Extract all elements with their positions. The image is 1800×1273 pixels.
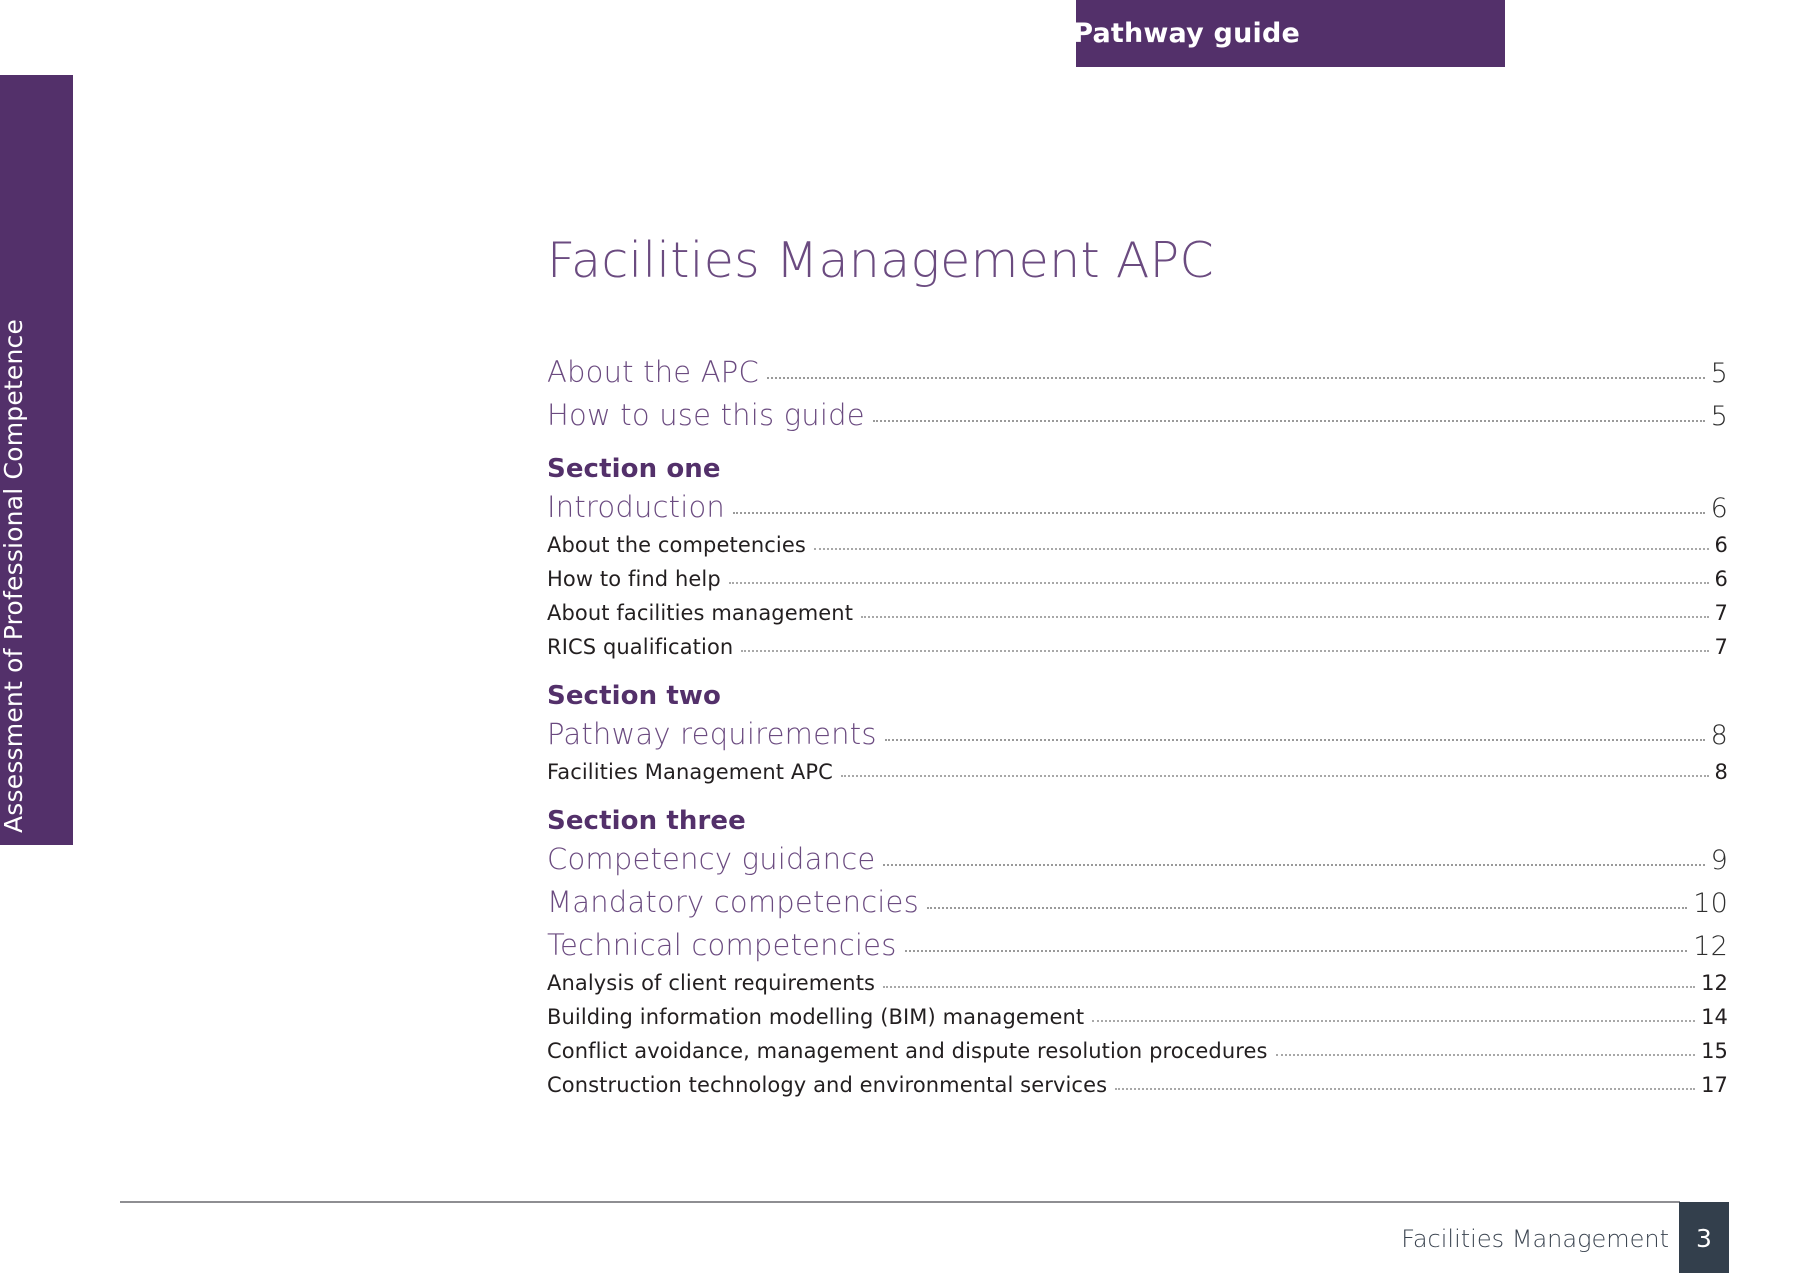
toc-entry[interactable]: How to use this guide5 <box>547 398 1728 432</box>
toc-entry[interactable]: Conflict avoidance, management and dispu… <box>547 1039 1728 1063</box>
toc-leader-dots <box>861 616 1708 618</box>
toc-entry[interactable]: Introduction6 <box>547 490 1728 524</box>
toc-leader-dots <box>927 907 1687 909</box>
toc-leader-dots <box>841 775 1709 777</box>
toc-entry[interactable]: Mandatory competencies10 <box>547 885 1728 919</box>
toc-entry-page: 6 <box>1715 533 1728 557</box>
toc-entry-page: 6 <box>1715 567 1728 591</box>
toc-leader-dots <box>1276 1054 1696 1056</box>
toc-entry-page: 10 <box>1693 888 1728 919</box>
toc-section-heading: Section one <box>547 454 1728 484</box>
toc-leader-dots <box>741 650 1708 652</box>
page-title: Facilities Management APC <box>547 232 1214 289</box>
toc-entry-page: 12 <box>1693 931 1728 962</box>
toc-entry-label: About the APC <box>547 355 759 389</box>
toc-entry-label: Analysis of client requirements <box>547 971 875 995</box>
toc-entry-page: 15 <box>1701 1039 1728 1063</box>
toc-entry[interactable]: About the competencies6 <box>547 533 1728 557</box>
page-number-box: 3 <box>1679 1202 1729 1273</box>
toc-entry-page: 14 <box>1701 1005 1728 1029</box>
toc-entry[interactable]: Analysis of client requirements12 <box>547 971 1728 995</box>
toc-leader-dots <box>767 377 1705 379</box>
document-page: Pathway guide Assessment of Professional… <box>0 0 1800 1273</box>
toc-entry-page: 8 <box>1711 720 1728 751</box>
toc-entry[interactable]: Competency guidance9 <box>547 842 1728 876</box>
toc-entry-label: Introduction <box>547 490 725 524</box>
toc-leader-dots <box>883 986 1695 988</box>
toc-entry[interactable]: RICS qualification7 <box>547 635 1728 659</box>
toc-entry-label: How to find help <box>547 567 721 591</box>
toc-entry-label: RICS qualification <box>547 635 733 659</box>
side-tab-label: Assessment of Professional Competence <box>0 319 28 833</box>
toc-section-heading: Section three <box>547 806 1728 836</box>
pathway-guide-banner-label: Pathway guide <box>1073 18 1300 49</box>
toc-entry-page: 12 <box>1701 971 1728 995</box>
page-number: 3 <box>1696 1224 1712 1253</box>
toc-leader-dots <box>885 739 1705 741</box>
toc-entry-page: 7 <box>1715 635 1728 659</box>
toc-leader-dots <box>1115 1088 1695 1090</box>
toc-entry[interactable]: Facilities Management APC8 <box>547 760 1728 784</box>
toc-entry-label: Competency guidance <box>547 842 875 876</box>
toc-entry-page: 7 <box>1715 601 1728 625</box>
footer-divider <box>120 1201 1680 1203</box>
toc-entry-label: Construction technology and environmenta… <box>547 1073 1107 1097</box>
table-of-contents: About the APC5How to use this guide5Sect… <box>547 355 1728 1107</box>
toc-entry[interactable]: About facilities management7 <box>547 601 1728 625</box>
toc-entry-label: Conflict avoidance, management and dispu… <box>547 1039 1268 1063</box>
toc-entry-label: Facilities Management APC <box>547 760 833 784</box>
toc-entry[interactable]: How to find help6 <box>547 567 1728 591</box>
toc-leader-dots <box>1092 1020 1695 1022</box>
toc-entry[interactable]: Technical competencies12 <box>547 928 1728 962</box>
toc-entry-label: Pathway requirements <box>547 717 877 751</box>
toc-leader-dots <box>733 512 1705 514</box>
toc-entry-label: About facilities management <box>547 601 853 625</box>
toc-entry-label: Mandatory competencies <box>547 885 919 919</box>
toc-entry-page: 8 <box>1715 760 1728 784</box>
footer-pathway-label: Facilities Management <box>1401 1225 1669 1253</box>
toc-entry-page: 5 <box>1711 358 1728 389</box>
toc-entry-label: How to use this guide <box>547 398 865 432</box>
toc-entry-page: 5 <box>1711 401 1728 432</box>
toc-section-heading: Section two <box>547 681 1728 711</box>
side-tab: Assessment of Professional Competence <box>0 75 73 845</box>
toc-leader-dots <box>814 548 1709 550</box>
toc-entry-label: About the competencies <box>547 533 806 557</box>
toc-entry[interactable]: About the APC5 <box>547 355 1728 389</box>
toc-entry-page: 6 <box>1711 493 1728 524</box>
toc-entry[interactable]: Construction technology and environmenta… <box>547 1073 1728 1097</box>
toc-entry-label: Building information modelling (BIM) man… <box>547 1005 1084 1029</box>
toc-leader-dots <box>883 864 1704 866</box>
toc-entry-page: 9 <box>1711 845 1728 876</box>
pathway-guide-banner: Pathway guide <box>1076 0 1505 67</box>
toc-leader-dots <box>905 950 1688 952</box>
toc-entry[interactable]: Pathway requirements8 <box>547 717 1728 751</box>
toc-entry-page: 17 <box>1701 1073 1728 1097</box>
toc-entry-label: Technical competencies <box>547 928 897 962</box>
toc-leader-dots <box>729 582 1709 584</box>
toc-entry[interactable]: Building information modelling (BIM) man… <box>547 1005 1728 1029</box>
toc-leader-dots <box>873 420 1705 422</box>
